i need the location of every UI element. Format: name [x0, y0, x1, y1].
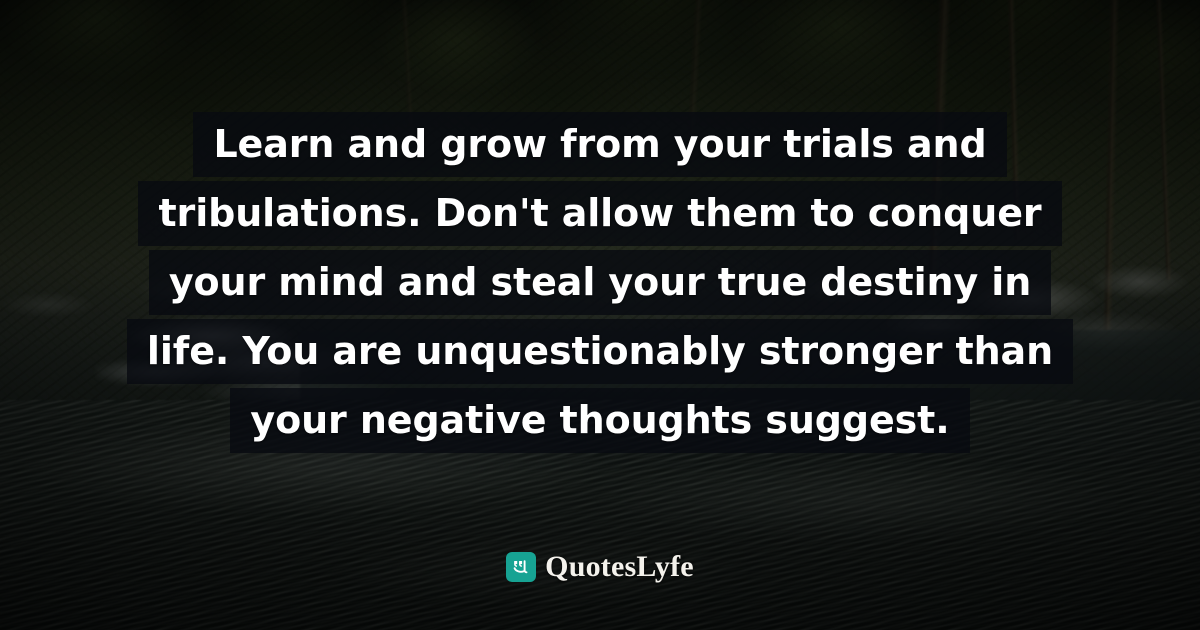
quote-smiley-icon: [506, 552, 536, 582]
quote-line: Learn and grow from your trials and: [193, 112, 1006, 177]
quote-line: your mind and steal your true destiny in: [149, 250, 1051, 315]
quote-text-block: Learn and grow from your trials and trib…: [0, 112, 1200, 457]
quote-image-card: Learn and grow from your trials and trib…: [0, 0, 1200, 630]
quote-line: your negative thoughts suggest.: [230, 388, 969, 453]
quote-line: life. You are unquestionably stronger th…: [127, 319, 1073, 384]
quote-line: tribulations. Don't allow them to conque…: [138, 181, 1061, 246]
brand-watermark: QuotesLyfe: [0, 552, 1200, 582]
brand-name: QuotesLyfe: [545, 552, 694, 582]
